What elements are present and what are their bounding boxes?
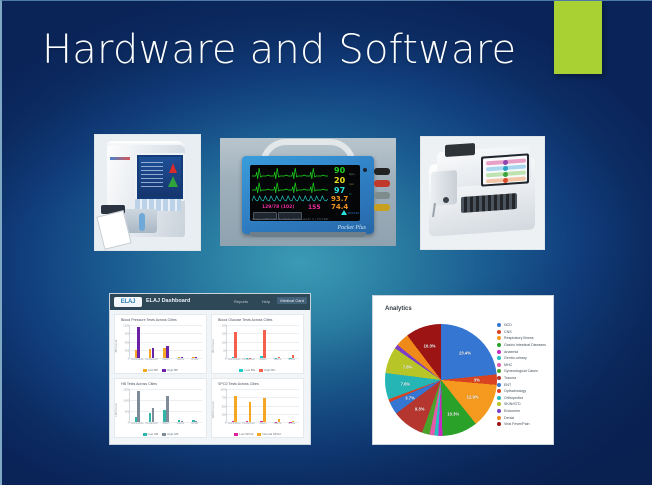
dashboard-body: Blood Pressure Tests Across CitiesBP Cou…: [110, 310, 310, 444]
chart-title: SPO2 Tests Across Cities: [218, 382, 259, 386]
chart-blood-pressure: Blood Pressure Tests Across CitiesBP Cou…: [115, 315, 206, 373]
chart-legend-item: Low SPO2: [234, 432, 253, 436]
chart-plot-area: 03006009001200CoimbatoreKovaipudurSalemV…: [129, 325, 202, 359]
pie-slice-label: 12.9%: [467, 394, 479, 399]
chart-xtick: Coimbatore: [131, 422, 144, 425]
analyzer-histogram-green: [168, 176, 178, 187]
legend-swatch: [497, 323, 501, 327]
page-title: Hardware and Software: [42, 27, 516, 73]
chart-legend-item: Low BG: [239, 368, 255, 372]
port-grey: [374, 192, 390, 199]
analytics-title: Analytics: [385, 306, 412, 312]
bio-analyzer-screen-content: [483, 155, 527, 184]
bio-analyzer-knob[interactable]: [443, 197, 449, 203]
chart-title: Blood Pressure Tests Across Cities: [121, 318, 177, 322]
chart-xtick: Kovaipudur: [242, 358, 255, 361]
chart-bar: [152, 348, 154, 358]
chart-bar: [137, 327, 139, 358]
chart-xtick: Kovaipudur: [242, 422, 255, 425]
analyzer-result-table: [141, 162, 163, 188]
legend-item[interactable]: Gastro Intestinal Diseases: [497, 342, 549, 349]
analyzer-display: [135, 153, 185, 201]
legend-swatch: [239, 369, 243, 372]
chart-gridline: 600: [130, 342, 202, 343]
vital-temp2-value: 74.4: [331, 203, 348, 211]
pie-slice-label: 3.7%: [405, 395, 415, 400]
chart-ytick: 500: [222, 405, 226, 408]
bio-analyzer-touchscreen[interactable]: [481, 153, 529, 186]
chart-xtick: Coimbatore: [228, 358, 241, 361]
legend-item[interactable]: Gynecological Cases: [497, 368, 549, 375]
pie-slice-label: 23.4%: [459, 351, 471, 356]
chart-xtick: Vellore: [177, 358, 185, 361]
dashboard-header: ELAJ ELAJ Dashboard Reports Help Medical…: [110, 294, 310, 310]
chart-plot-area: 050010001500CoimbatoreKovaipudurSalemVel…: [129, 389, 202, 423]
photo-elaj-dashboard: ELAJ ELAJ Dashboard Reports Help Medical…: [109, 293, 311, 445]
photo-biochemistry-analyzer: [420, 136, 545, 250]
legend-swatch: [497, 350, 501, 354]
legend-swatch: [497, 343, 501, 347]
chart-xtick: Salem: [259, 422, 266, 425]
chart-xtick: Vellore: [177, 422, 185, 425]
legend-label: NCD: [504, 323, 512, 327]
legend-swatch: [497, 422, 501, 426]
chart-ylabel: BG Count: [211, 339, 215, 352]
vital-hr-value: 90: [334, 166, 345, 175]
legend-swatch: [497, 402, 501, 406]
analytics-legend: NCDCNSRespiratory IllnessGastro Intestin…: [497, 322, 549, 428]
chart-ytick: 50: [223, 349, 226, 352]
legend-item[interactable]: Endocrine: [497, 408, 549, 415]
legend-swatch: [143, 369, 147, 372]
monitor-base: [250, 232, 366, 237]
chart-plot-area: 050100150200CoimbatoreKovaipudurSalemVel…: [226, 325, 299, 359]
chart-bar: [166, 396, 168, 422]
monitor-connector-ports: [374, 168, 396, 214]
chart-bar: [263, 330, 265, 358]
legend-label: CNS: [504, 330, 512, 334]
legend-swatch: [497, 383, 501, 387]
pie-slice-label: 3%: [474, 377, 480, 382]
legend-swatch: [497, 416, 501, 420]
legend-label: Viral Fever/Pain: [504, 422, 530, 426]
chart-ytick: 0: [225, 358, 227, 361]
port-black: [374, 168, 390, 175]
vital-hr-unit: bpm: [349, 172, 355, 176]
chart-legend-item: High BG: [259, 368, 275, 372]
legend-item[interactable]: ENT: [497, 381, 549, 388]
chart-bar: [137, 391, 139, 422]
chart-legend-item: High HB: [162, 432, 178, 436]
legend-label: ENT: [504, 383, 511, 387]
chart-ytick: 150: [222, 333, 226, 336]
legend-label: Trauma: [504, 376, 516, 380]
legend-item[interactable]: Opthalmology: [497, 388, 549, 395]
chart-bar: [234, 332, 236, 358]
legend-swatch: [497, 396, 501, 400]
chart-legend: Low BGHigh BG: [212, 368, 303, 372]
chart-gridline: 900: [130, 333, 202, 334]
screen-bullet-4: [503, 177, 508, 182]
pie-slice-label: 10.3%: [447, 411, 459, 416]
legend-swatch: [497, 409, 501, 413]
bio-analyzer-printer: [445, 143, 475, 157]
chart-ytick: 0: [128, 422, 130, 425]
chart-bar: [166, 346, 168, 358]
chart-ytick: 250: [222, 413, 226, 416]
spo2-pleth-waveform: [252, 193, 328, 204]
legend-swatch: [497, 363, 501, 367]
legend-item[interactable]: MHC: [497, 362, 549, 369]
analyzer-brand-stripe: [110, 157, 130, 160]
vital-pulse-value: 155: [308, 204, 321, 211]
legend-swatch: [497, 356, 501, 360]
pie-slice-label: 7.6%: [403, 365, 413, 370]
accent-bar: [554, 1, 602, 74]
chart-ytick: 500: [125, 411, 129, 414]
chart-legend: Low BPHigh BP: [115, 368, 206, 372]
legend-item[interactable]: Anaemia: [497, 348, 549, 355]
vital-spo2-value: 97: [334, 186, 345, 195]
chart-ylabel: HB Count: [114, 403, 118, 416]
legend-label: Anaemia: [504, 350, 518, 354]
monitor-clock: 15:04:25: [347, 211, 359, 215]
photo-analytics-pie-chart: Analytics 23.4%3%12.9%10.3%9.3%3.7%7.6%7…: [372, 295, 554, 445]
chart-ytick: 1200: [123, 325, 129, 328]
vital-temp1-value: 93.7: [331, 195, 348, 203]
legend-item[interactable]: Genito-urinary: [497, 355, 549, 362]
legend-label: MHC: [504, 363, 512, 367]
chart-xtick: Coimbatore: [131, 358, 144, 361]
vital-rr-value: 20: [334, 176, 345, 185]
analyzer-histogram-red: [169, 163, 177, 173]
pie-slice-label: 9.3%: [415, 406, 425, 411]
screen-bullet-3: [503, 171, 508, 176]
analyzer-sample-probe: [139, 213, 145, 231]
chart-ylabel: SPO2 Count: [211, 402, 215, 419]
chart-ytick: 200: [222, 325, 226, 328]
chart-legend-item: Low HB: [143, 432, 159, 436]
vital-rr-unit: rpm: [349, 182, 354, 186]
chart-hb: HB Tests Across CitiesHB Count0500100015…: [115, 379, 206, 437]
chart-xtick: Salem: [162, 422, 169, 425]
chart-xtick: Salem: [259, 358, 266, 361]
chart-xtick: Vellore: [274, 422, 282, 425]
dashboard-chart-card-spo2: SPO2 Tests Across CitiesSPO2 Count025050…: [211, 378, 304, 438]
legend-swatch: [259, 369, 263, 372]
chart-spo2: SPO2 Tests Across CitiesSPO2 Count025050…: [212, 379, 303, 437]
dashboard-medical-card-button[interactable]: Medical Card: [277, 297, 307, 304]
chart-bar: [263, 398, 265, 422]
chart-xtick: Erode: [191, 358, 198, 361]
photo-hematology-analyzer: [94, 134, 201, 251]
legend-label: SKIN/STD: [504, 402, 521, 406]
chart-xtick: Erode: [288, 422, 295, 425]
legend-item[interactable]: Orthopedics: [497, 395, 549, 402]
legend-item[interactable]: Respiratory Illness: [497, 335, 549, 342]
chart-legend: Low SPO2Normal SPO2: [212, 432, 303, 436]
chart-title: Blood Glucose Tests Across Cities: [218, 318, 272, 322]
legend-label: Genito-urinary: [504, 356, 527, 360]
monitor-screen: 90 bpm 20 rpm 97 % 93.7 74.4 129/78 (102…: [250, 165, 360, 221]
chart-xtick: Coimbatore: [228, 422, 241, 425]
analytics-pie-circle: [385, 324, 497, 436]
legend-swatch: [497, 369, 501, 373]
analyzer-display-content: [139, 157, 181, 197]
chart-legend-item: Low BP: [143, 368, 158, 372]
legend-item[interactable]: Viral Fever/Pain: [497, 421, 549, 428]
ecg-waveform-lead-2: [252, 180, 328, 193]
chart-bar: [249, 402, 251, 422]
vital-nibp-value: 129/78 (102): [262, 205, 294, 210]
legend-swatch: [497, 376, 501, 380]
ecg-waveform-lead-1: [252, 166, 328, 179]
legend-item[interactable]: NCD: [497, 322, 549, 329]
legend-label: Respiratory Illness: [504, 336, 534, 340]
monitor-brand-logo: Pocket Plus: [338, 225, 367, 231]
legend-label: Gynecological Cases: [504, 369, 538, 373]
dashboard-nav-reports[interactable]: Reports: [234, 299, 248, 304]
chart-ytick: 1000: [220, 389, 226, 392]
legend-item[interactable]: Dental: [497, 414, 549, 421]
chart-ytick: 1500: [123, 389, 129, 392]
legend-label: Gastro Intestinal Diseases: [504, 343, 546, 347]
legend-swatch: [143, 433, 147, 436]
chart-xtick: Kovaipudur: [145, 422, 158, 425]
screen-bullet-2: [503, 165, 508, 170]
monitor-case: 90 bpm 20 rpm 97 % 93.7 74.4 129/78 (102…: [242, 156, 374, 234]
legend-label: Orthopedics: [504, 396, 523, 400]
chart-blood-glucose: Blood Glucose Tests Across CitiesBG Coun…: [212, 315, 303, 373]
dashboard-title: ELAJ Dashboard: [146, 298, 190, 304]
chart-ylabel: BP Count: [114, 340, 118, 353]
chart-xtick: Salem: [162, 358, 169, 361]
chart-bar: [152, 408, 154, 422]
chart-ytick: 1000: [123, 400, 129, 403]
chart-gridline: 1500: [130, 389, 202, 390]
chart-ytick: 900: [125, 333, 129, 336]
legend-item[interactable]: CNS: [497, 329, 549, 336]
chart-plot-area: 02505007501000CoimbatoreKovaipudurSalemV…: [226, 389, 299, 423]
chart-ytick: 100: [222, 341, 226, 344]
chart-gridline: 1200: [130, 325, 202, 326]
chart-xtick: Kovaipudur: [145, 358, 158, 361]
pie-slice-label: 7.6%: [401, 382, 411, 387]
legend-swatch: [497, 330, 501, 334]
legend-swatch: [257, 433, 261, 436]
legend-label: Endocrine: [504, 409, 520, 413]
chart-ytick: 750: [222, 397, 226, 400]
chart-ytick: 0: [225, 422, 227, 425]
chart-ytick: 300: [125, 349, 129, 352]
legend-label: Opthalmology: [504, 389, 526, 393]
pie-slice-label: 10.3%: [424, 344, 436, 349]
legend-item[interactable]: SKIN/STD: [497, 401, 549, 408]
legend-swatch: [497, 389, 501, 393]
chart-ytick: 0: [128, 358, 130, 361]
photo-patient-monitor: 90 bpm 20 rpm 97 % 93.7 74.4 129/78 (102…: [220, 138, 396, 246]
vital-spo2-unit: %: [349, 192, 352, 196]
chart-xtick: Erode: [191, 422, 198, 425]
legend-swatch: [162, 433, 166, 436]
monitor-power-led: [363, 168, 367, 172]
legend-label: Dental: [504, 416, 514, 420]
chart-bar: [234, 396, 236, 422]
legend-item[interactable]: Trauma: [497, 375, 549, 382]
legend-swatch: [497, 336, 501, 340]
dashboard-chart-card-bp: Blood Pressure Tests Across CitiesBP Cou…: [114, 314, 207, 374]
chart-xtick: Vellore: [274, 358, 282, 361]
dashboard-nav-help[interactable]: Help: [262, 299, 270, 304]
analytics-pie-wrap: 23.4%3%12.9%10.3%9.3%3.7%7.6%7.6%10.3%: [385, 324, 497, 436]
port-red: [374, 180, 390, 187]
presentation-slide: Hardware and Software: [0, 0, 652, 485]
chart-legend-item: Normal SPO2: [257, 432, 281, 436]
monitor-status-line: Drug | NIBP MODE: MAN | ECG LEAD: II | F…: [252, 217, 329, 221]
screen-bullet-1: [503, 159, 508, 164]
dashboard-logo[interactable]: ELAJ: [114, 297, 142, 307]
chart-legend-item: High BP: [162, 368, 178, 372]
dashboard-chart-card-bg: Blood Glucose Tests Across CitiesBG Coun…: [211, 314, 304, 374]
chart-legend: Low HBHigh HB: [115, 432, 206, 436]
chart-title: HB Tests Across Cities: [121, 382, 157, 386]
dashboard-chart-card-hb: HB Tests Across CitiesHB Count0500100015…: [114, 378, 207, 438]
legend-swatch: [162, 369, 166, 372]
chart-gridline: 1000: [227, 389, 299, 390]
chart-xtick: Erode: [288, 358, 295, 361]
port-yellow: [374, 204, 390, 211]
chart-gridline: 200: [227, 325, 299, 326]
chart-ytick: 600: [125, 341, 129, 344]
legend-swatch: [234, 433, 238, 436]
